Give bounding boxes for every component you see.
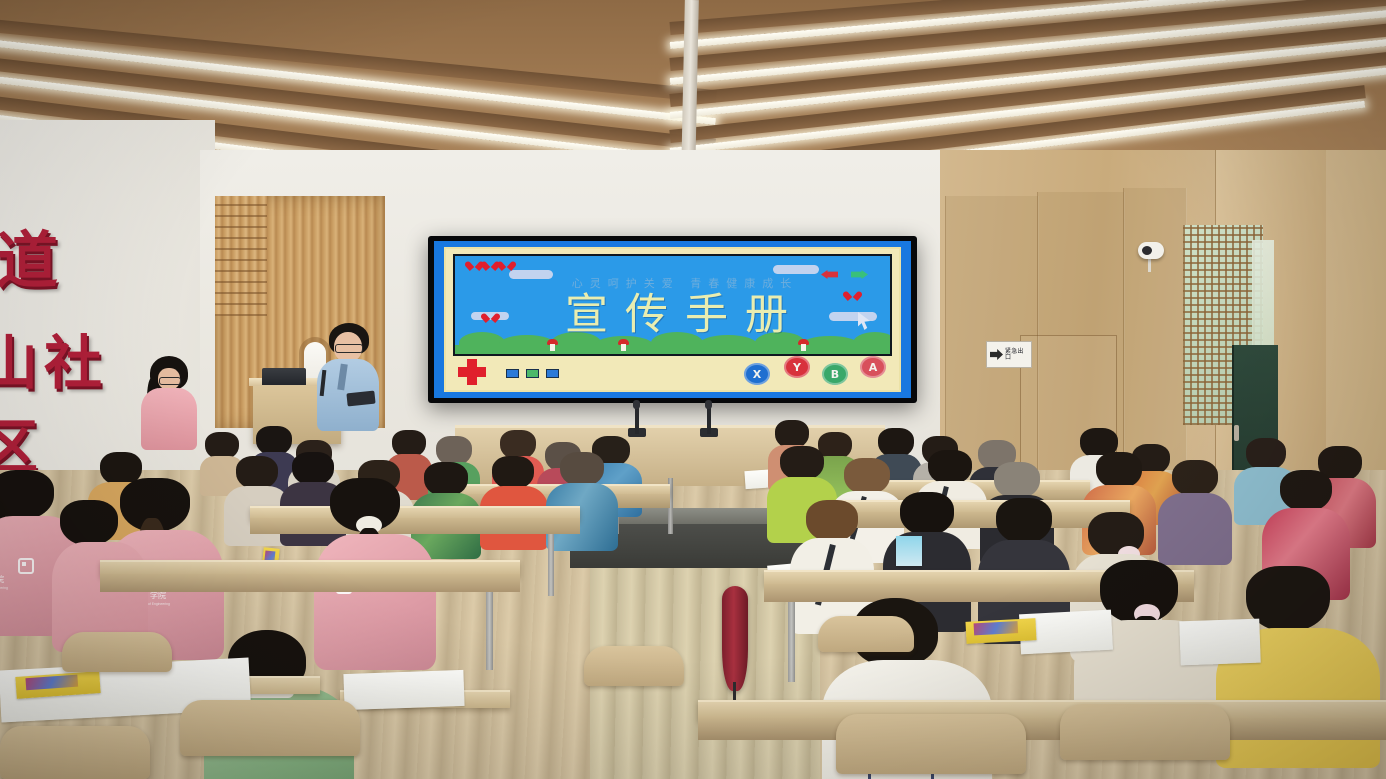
- volunteer-shirt: [314, 534, 436, 670]
- wood-lattice-panel: [215, 196, 267, 316]
- wall-char-line1: 道: [0, 210, 58, 300]
- head: [1096, 452, 1142, 489]
- head: [1280, 470, 1332, 512]
- mushroom-icon: [798, 339, 809, 351]
- college-logo-icon: [18, 558, 34, 574]
- head: [844, 458, 890, 495]
- head: [900, 492, 954, 536]
- head: [928, 450, 972, 485]
- heart-icon: [469, 260, 480, 270]
- emergency-exit-sign: 紧急出口: [986, 341, 1032, 368]
- lanyard-card: [896, 536, 922, 566]
- umbrella: [722, 586, 748, 691]
- mushroom-icon: [618, 339, 629, 351]
- head: [292, 452, 334, 486]
- microphone-head: [633, 400, 640, 409]
- community-name-sign: 道 山社区: [0, 228, 144, 408]
- desk-leg: [486, 592, 493, 670]
- chair[interactable]: [584, 646, 684, 686]
- button-x[interactable]: X: [744, 363, 770, 385]
- chair[interactable]: [1060, 704, 1230, 760]
- college-logo-subtext: of Engineering: [148, 602, 170, 606]
- mini-button[interactable]: [506, 369, 519, 378]
- college-logo-subtext: of Engineering: [0, 586, 8, 590]
- desk-leg: [548, 534, 554, 596]
- desk-apron: [100, 574, 520, 592]
- paper-sheet: [1179, 619, 1260, 666]
- exit-arrow-icon: [990, 348, 1003, 361]
- mini-button[interactable]: [546, 369, 559, 378]
- mini-button[interactable]: [526, 369, 539, 378]
- exit-sign-label: 紧急出口: [1005, 349, 1028, 361]
- slide-sky-area: 心灵呵护关爱 青春健康成长 宣传手册: [453, 254, 892, 356]
- head: [996, 498, 1052, 544]
- heart-icon: [501, 260, 512, 270]
- head: [236, 456, 278, 490]
- button-y[interactable]: Y: [784, 356, 810, 378]
- chair[interactable]: [62, 632, 172, 672]
- chair[interactable]: [818, 616, 914, 652]
- slide-subtitle: 心灵呵护关爱 青春健康成长: [495, 275, 875, 291]
- handout-booklet[interactable]: [965, 618, 1036, 644]
- eyeglasses-icon: [335, 344, 363, 353]
- security-camera-icon: [1138, 242, 1164, 259]
- head: [780, 446, 824, 481]
- head: [424, 462, 468, 497]
- photo-scene: 道 山社区 紧急出口: [0, 0, 1386, 779]
- eyeglasses-icon: [159, 377, 181, 385]
- microphone-head: [705, 400, 712, 409]
- mushroom-icon: [547, 339, 558, 351]
- chair[interactable]: [180, 700, 360, 756]
- dpad-icon[interactable]: [458, 359, 486, 385]
- desk-apron: [250, 518, 580, 534]
- presenter-shirt: [141, 388, 197, 450]
- camera-mount: [1148, 258, 1151, 272]
- college-logo-text: 学院: [0, 574, 4, 585]
- button-a[interactable]: A: [860, 356, 886, 378]
- heart-icon: [485, 260, 496, 270]
- torso: [1158, 493, 1232, 565]
- head: [492, 456, 534, 490]
- desk-apron: [830, 512, 1130, 528]
- head: [60, 500, 118, 546]
- button-b[interactable]: B: [822, 363, 848, 385]
- laptop[interactable]: [262, 368, 306, 385]
- chair[interactable]: [836, 714, 1026, 774]
- cloud-icon: [773, 265, 819, 274]
- chair[interactable]: [0, 726, 150, 779]
- head: [1172, 460, 1218, 497]
- head: [806, 500, 858, 542]
- head: [560, 452, 604, 487]
- door-handle[interactable]: [1234, 425, 1239, 441]
- hill: [801, 336, 859, 354]
- desk-leg: [788, 602, 795, 682]
- desk: [698, 700, 1386, 720]
- presentation-slide[interactable]: 心灵呵护关爱 青春健康成长 宣传手册 X Y B A: [444, 247, 901, 392]
- slide-title: 宣传手册: [475, 294, 892, 337]
- head: [994, 462, 1040, 499]
- desk-apron: [698, 718, 1386, 740]
- paper-sheet: [343, 670, 464, 710]
